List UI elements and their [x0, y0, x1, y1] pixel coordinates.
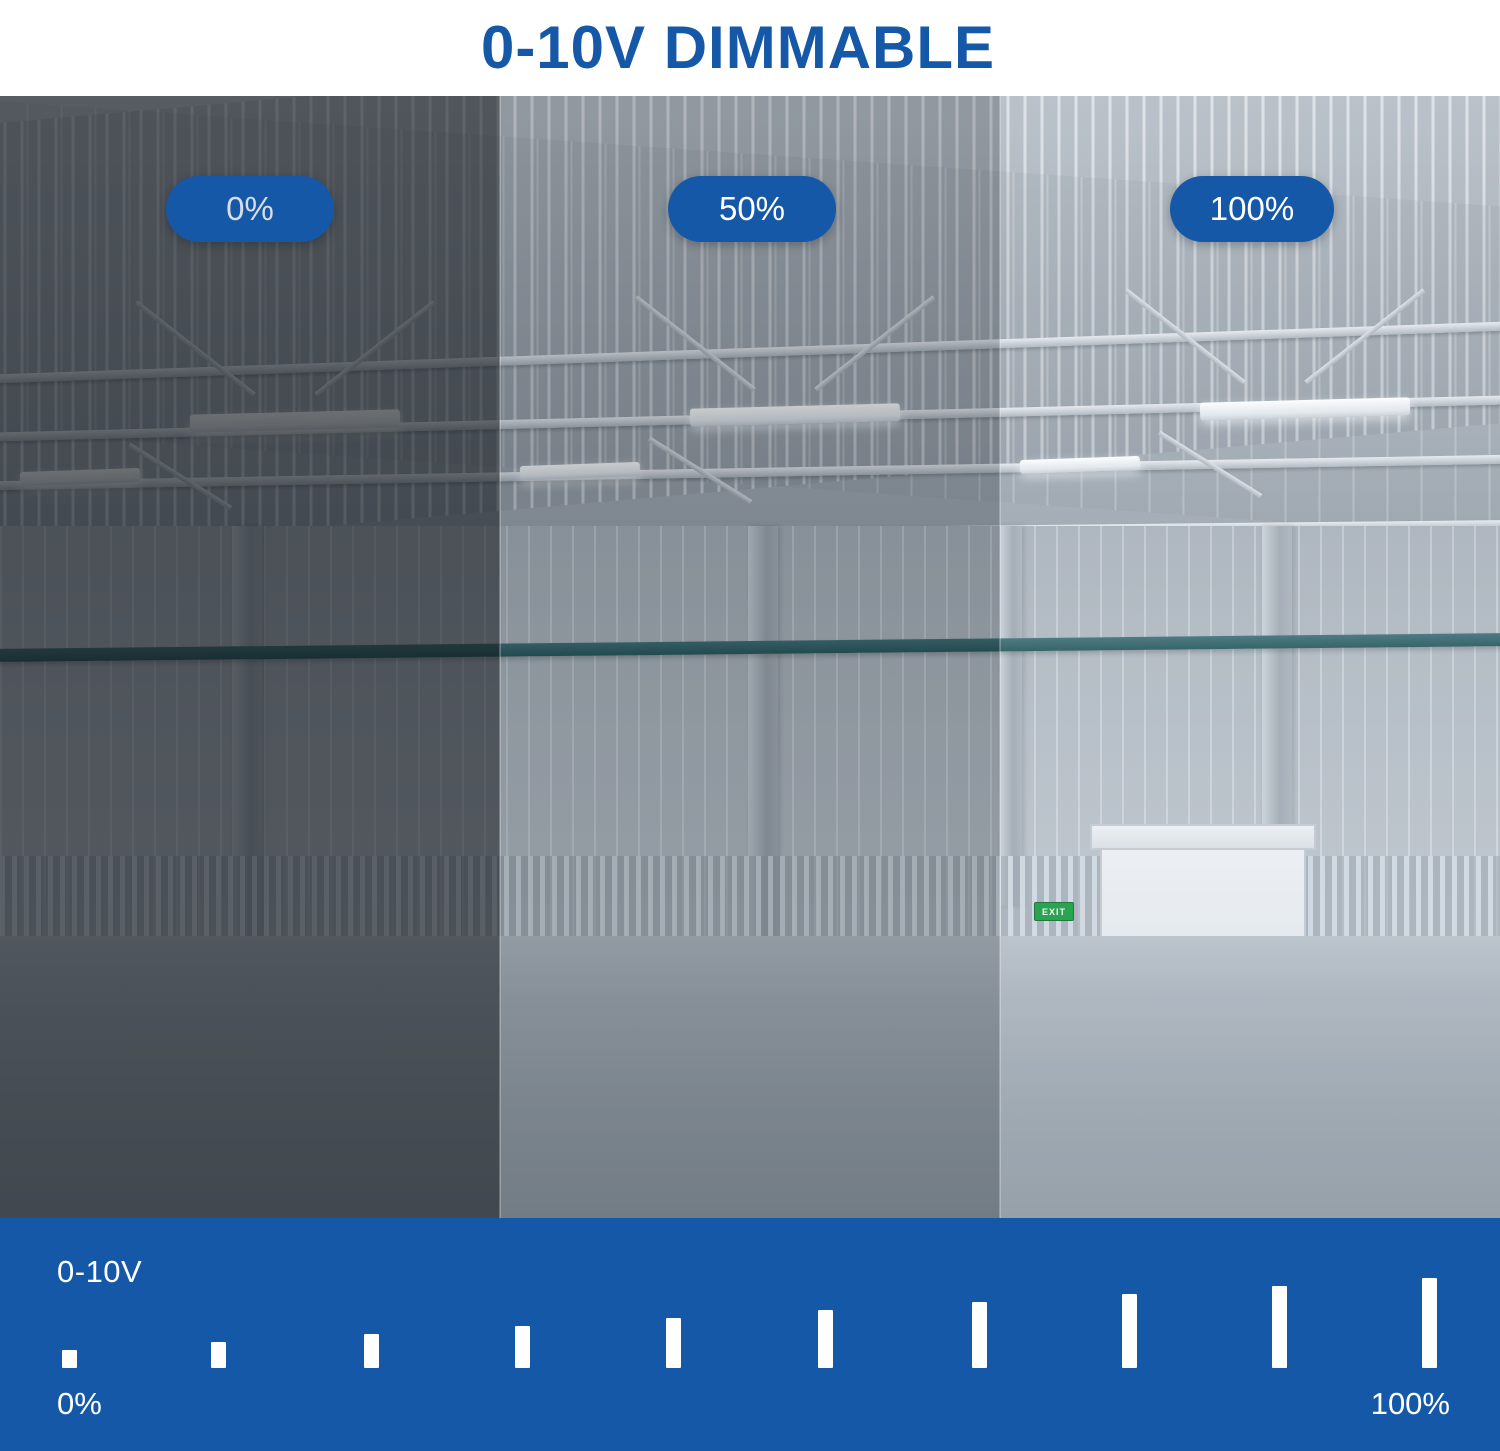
header: 0-10V DIMMABLE [0, 0, 1500, 96]
page-title: 0-10V DIMMABLE [481, 18, 995, 78]
warehouse-scene: EXIT 0% 50% 100% [0, 96, 1500, 1218]
dim-level-0: 0% [166, 176, 334, 242]
dim-level-50-label: 50% [719, 190, 785, 228]
dimming-tick [1422, 1278, 1437, 1368]
dimming-ticks [0, 1278, 1500, 1368]
dim-level-100: 100% [1170, 176, 1334, 242]
dimming-scale-bar: 0-10V 0% 100% [0, 1218, 1500, 1451]
dimming-tick [666, 1318, 681, 1368]
panel-divider [999, 96, 1001, 1218]
product-feature-image: 0-10V DIMMABLE [0, 0, 1500, 1451]
scale-min-label: 0% [57, 1386, 102, 1422]
dimming-tick [818, 1310, 833, 1368]
dim-level-50: 50% [668, 176, 836, 242]
dim-level-0-label: 0% [226, 190, 274, 228]
dim-overlay-0 [0, 96, 500, 1218]
dim-overlay-100 [1000, 96, 1500, 1218]
panel-divider [499, 96, 501, 1218]
dimming-tick [62, 1350, 77, 1368]
dimming-tick [364, 1334, 379, 1368]
dimming-tick [211, 1342, 226, 1368]
dim-level-100-label: 100% [1210, 190, 1294, 228]
dim-overlay-50 [500, 96, 1000, 1218]
dimming-tick [972, 1302, 987, 1368]
dimming-tick [515, 1326, 530, 1368]
dimming-tick [1122, 1294, 1137, 1368]
scale-max-label: 100% [1371, 1386, 1450, 1422]
dimming-tick [1272, 1286, 1287, 1368]
